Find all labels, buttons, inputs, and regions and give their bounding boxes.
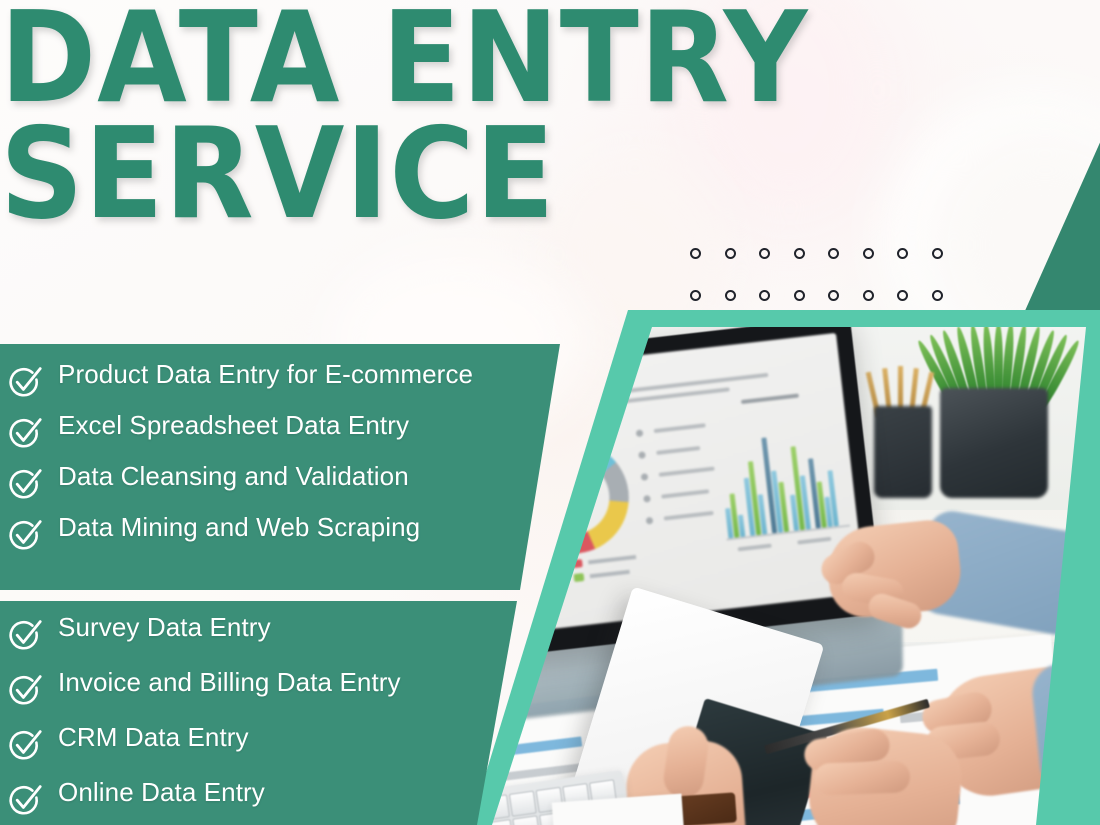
service-list-item[interactable]: Product Data Entry for E-commerce (0, 360, 560, 401)
check-circle-icon (6, 616, 44, 654)
service-list-item-label: Survey Data Entry (58, 613, 271, 642)
chart-legend-label (590, 570, 630, 579)
check-circle-icon (6, 781, 44, 819)
circle-outline-icon (932, 248, 943, 259)
check-circle-icon (6, 671, 44, 709)
circle-outline-icon (828, 290, 839, 301)
title-line-1: DATA ENTRY (0, 8, 644, 108)
list-bullet (636, 429, 644, 437)
title-line-2: SERVICE (0, 124, 644, 224)
circle-outline-icon (690, 290, 701, 301)
service-list-item[interactable]: Data Cleansing and Validation (0, 462, 560, 503)
bar-chart-tick-label (738, 544, 772, 552)
circle-outline-icon (759, 290, 770, 301)
service-list-item[interactable]: Excel Spreadsheet Data Entry (0, 411, 560, 452)
service-list-item-label: Data Mining and Web Scraping (58, 513, 420, 542)
service-list-item-label: Excel Spreadsheet Data Entry (58, 411, 409, 440)
circle-outline-icon (863, 290, 874, 301)
dashboard-text-line (654, 423, 706, 433)
circle-outline-icon (932, 290, 943, 301)
keyboard-key (509, 791, 537, 817)
dashboard-text-line (664, 511, 714, 521)
check-circle-icon (6, 726, 44, 764)
pencil-cup (874, 406, 932, 498)
check-circle-icon (6, 363, 44, 401)
service-list-item[interactable]: CRM Data Entry (0, 723, 560, 764)
dashboard-text-line (656, 446, 700, 455)
circle-outline-icon (897, 248, 908, 259)
check-circle-icon (6, 465, 44, 503)
service-list-item[interactable]: Online Data Entry (0, 778, 560, 819)
dot-grid-decoration (690, 248, 950, 308)
list-bullet (638, 451, 646, 459)
bar-chart-tick-label (797, 537, 831, 545)
circle-outline-icon (690, 248, 701, 259)
service-list-item-label: Online Data Entry (58, 778, 265, 807)
plant-pot (940, 388, 1048, 498)
circle-outline-icon (897, 290, 908, 301)
services-primary-list: Product Data Entry for E-commerceExcel S… (0, 344, 560, 564)
chart-legend-swatch (574, 573, 585, 582)
service-list-item-label: CRM Data Entry (58, 723, 249, 752)
service-list-item[interactable]: Invoice and Billing Data Entry (0, 668, 560, 709)
chart-legend-label (588, 555, 636, 564)
check-circle-icon (6, 516, 44, 554)
circle-outline-icon (794, 290, 805, 301)
poster-canvas: Product Data Entry for E-commerceExcel S… (0, 0, 1100, 825)
bar-chart-label (741, 394, 799, 405)
finger (813, 760, 910, 795)
services-secondary-list: Survey Data EntryInvoice and Billing Dat… (0, 601, 560, 825)
circle-outline-icon (828, 248, 839, 259)
dashboard-text-line (659, 467, 715, 477)
service-list-item-label: Product Data Entry for E-commerce (58, 360, 473, 389)
keyboard-key (512, 815, 540, 825)
check-circle-icon (6, 414, 44, 452)
list-bullet (643, 495, 651, 503)
circle-outline-icon (759, 248, 770, 259)
list-bullet (641, 473, 649, 481)
page-title: DATA ENTRY SERVICE (0, 8, 700, 223)
circle-outline-icon (725, 248, 736, 259)
circle-outline-icon (863, 248, 874, 259)
dashboard-text-line (661, 489, 709, 498)
service-list-item-label: Data Cleansing and Validation (58, 462, 409, 491)
service-list-item-label: Invoice and Billing Data Entry (58, 668, 401, 697)
service-list-item[interactable]: Survey Data Entry (0, 613, 560, 654)
circle-outline-icon (725, 290, 736, 301)
list-bullet (646, 517, 654, 525)
services-primary-panel: Product Data Entry for E-commerceExcel S… (0, 344, 600, 590)
service-list-item[interactable]: Data Mining and Web Scraping (0, 513, 560, 554)
bar-chart (715, 408, 846, 539)
circle-outline-icon (794, 248, 805, 259)
